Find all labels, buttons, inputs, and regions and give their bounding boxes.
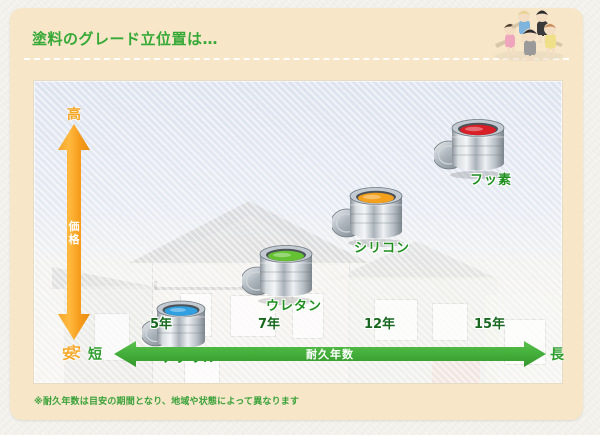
durability-axis-title: 耐久年数	[114, 346, 546, 362]
price-axis-title: 価格	[64, 220, 84, 246]
infographic-card: 塗料のグレード立位置は…	[10, 8, 583, 420]
year-label-fluorine: 15年	[474, 313, 505, 332]
paint-can-fluorine[interactable]: フッ素	[434, 107, 518, 185]
price-axis: 高 価格 安	[53, 108, 95, 356]
price-axis-high-label: 高	[53, 104, 95, 124]
durability-axis-long-label: 長	[550, 344, 564, 364]
can-label-urethane: ウレタン	[266, 295, 322, 314]
year-label-acrylic: 5年	[150, 313, 172, 332]
page-title: 塗料のグレード立位置は…	[32, 28, 218, 49]
kids-holding-hands-illustration	[483, 10, 575, 62]
paint-can-silicone[interactable]: シリコン	[332, 175, 416, 253]
durability-axis: 耐久年数	[114, 341, 546, 367]
year-label-urethane: 7年	[258, 313, 280, 332]
chart-stage: アクリル	[33, 80, 563, 384]
price-axis-bottom-cheap-label: 安	[62, 344, 76, 364]
footnote: ※耐久年数は目安の期間となり、地域や状態によって異なります	[34, 394, 299, 407]
can-label-silicone: シリコン	[354, 237, 410, 256]
year-label-silicone: 12年	[364, 313, 395, 332]
durability-axis-short-label: 短	[88, 344, 102, 364]
paint-can-urethane[interactable]: ウレタン	[242, 233, 326, 311]
can-label-fluorine: フッ素	[470, 169, 512, 188]
